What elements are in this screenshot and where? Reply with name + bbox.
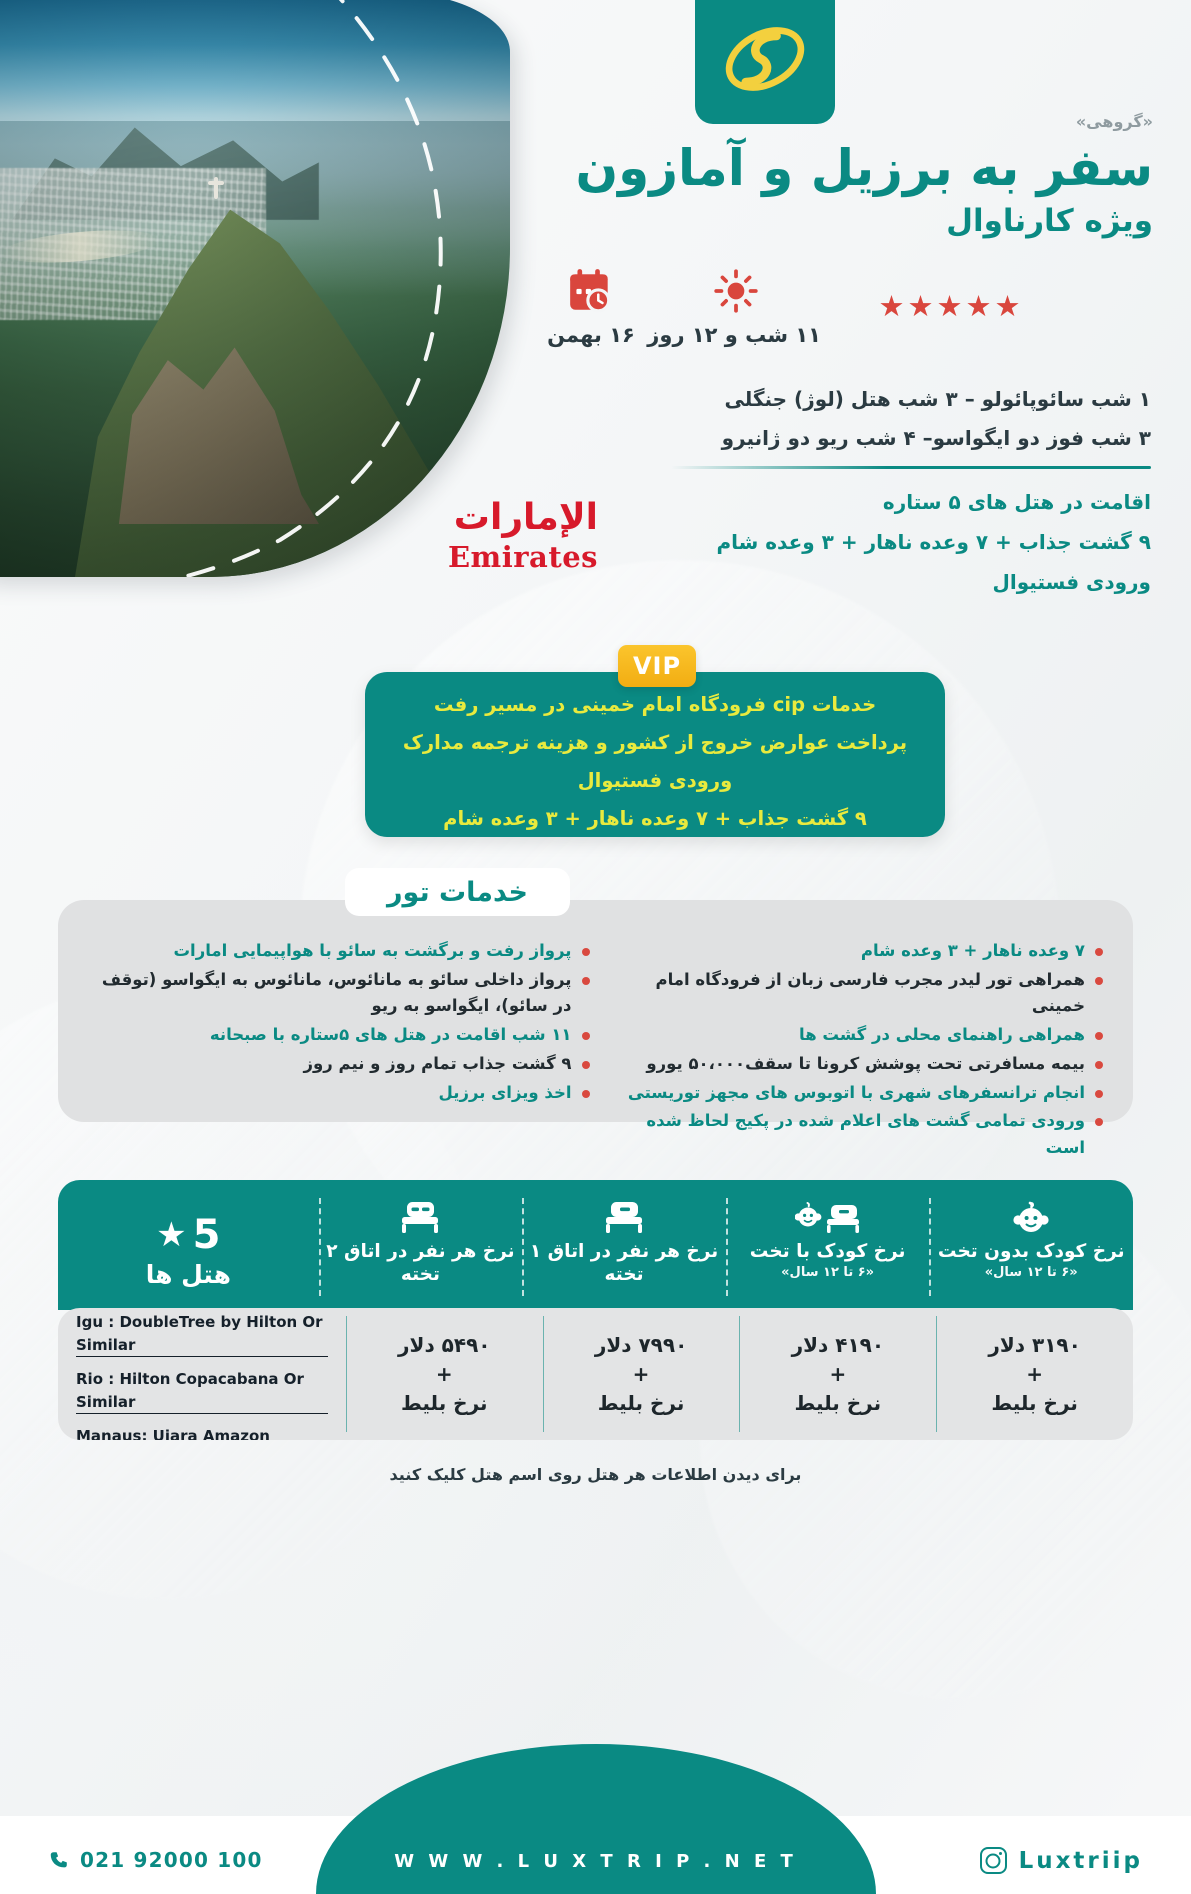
bullet-dot-icon [582, 1061, 590, 1069]
service-text: پرواز داخلی سائو به مانائوس، مانائوس به … [88, 967, 572, 1020]
column-header-single-room: نرخ هر نفر در اتاق ۱ تخته [522, 1180, 726, 1310]
column-header-label: نرخ هر نفر در اتاق ۲ تخته [319, 1240, 523, 1286]
section-divider [671, 466, 1151, 469]
list-item: بیمه مسافرتی تحت پوشش کرونا تا سقف۵۰،۰۰۰… [602, 1051, 1104, 1078]
price-value: ۴۱۹۰ دلار [792, 1331, 884, 1360]
table-cell-price-double-room: ۵۴۹۰ دلار + نرخ بلیط [346, 1308, 543, 1440]
column-header-double-room: نرخ هر نفر در اتاق ۲ تخته [319, 1180, 523, 1310]
table-cell-price-child-with-bed: ۴۱۹۰ دلار + نرخ بلیط [739, 1308, 936, 1440]
list-item: ورودی تمامی گشت های اعلام شده در پکیج لح… [602, 1108, 1104, 1161]
hotels-label: هتل ها [146, 1260, 231, 1289]
service-text: همراهی راهنمای محلی در گشت ها [602, 1022, 1086, 1049]
bullet-dot-icon [1095, 948, 1103, 956]
bullet-dot-icon [582, 1032, 590, 1040]
vip-badge: VIP [618, 645, 696, 687]
column-header-child-no-bed: نرخ کودک بدون تخت «۶ تا ۱۲ سال» [929, 1180, 1133, 1310]
trip-meta-row: ۱۶ بهمن ۱۱ شب [531, 265, 1151, 347]
bullet-dot-icon [582, 977, 590, 985]
price-extra-note: نرخ بلیط [991, 1389, 1078, 1418]
bullet-dot-icon [582, 948, 590, 956]
footer-instagram-handle: Luxtriip [1019, 1848, 1143, 1874]
services-left-column: ۷ وعده ناهار + ۳ وعده شام همراهی تور لید… [596, 938, 1104, 1104]
bullet-dot-icon [1095, 1032, 1103, 1040]
footer-instagram-block[interactable]: Luxtriip [980, 1847, 1143, 1874]
trip-date-cell: ۱۶ بهمن [531, 265, 651, 347]
emirates-wordmark: Emirates [478, 540, 598, 574]
footer-phone-block[interactable]: 021 92000 100 [48, 1848, 263, 1872]
poster-root: «گروهی» سفر به برزیل و آمازون ویژه کارنا… [0, 0, 1191, 1894]
double-bed-icon [394, 1194, 446, 1240]
luxtrip-swirl-logo-icon [717, 11, 813, 107]
column-header-hotels: 5 ★ هتل ها [58, 1180, 319, 1310]
bullet-dot-icon [1095, 1118, 1103, 1126]
price-value: ۷۹۹۰ دلار [595, 1331, 687, 1360]
table-cell-hotel-list: Sao : Grand Hyatt Or Similar Igu : Doubl… [58, 1308, 346, 1440]
baby-face-icon [1011, 1194, 1051, 1240]
header-text-block: «گروهی» سفر به برزیل و آمازون ویژه کارنا… [533, 112, 1153, 243]
service-text: همراهی تور لیدر مجرب فارسی زبان از فرودگ… [602, 967, 1086, 1020]
services-right-column: پرواز رفت و برگشت به سائو با هواپیمایی ا… [88, 938, 596, 1104]
inclusion-line-1: اقامت در هتل های ۵ ستاره [531, 482, 1151, 522]
vip-services-box: خدمات cip فرودگاه امام خمینی در مسیر رفت… [365, 672, 945, 837]
vip-line-4: ۹ گشت جذاب + ۷ وعده ناهار + ۳ وعده شام [393, 800, 917, 838]
page-title: سفر به برزیل و آمازون [533, 139, 1153, 198]
inclusions-block: اقامت در هتل های ۵ ستاره ۹ گشت جذاب + ۷ … [531, 482, 1151, 602]
brand-logo-box[interactable] [695, 0, 835, 124]
sun-icon [651, 265, 821, 317]
price-value: ۳۱۹۰ دلار [988, 1331, 1080, 1360]
phone-icon [48, 1849, 70, 1871]
service-text: اخذ ویزای برزیل [88, 1080, 572, 1107]
price-plus-sign: + [1026, 1360, 1043, 1389]
service-text: ۱۱ شب اقامت در هتل های ۵ستاره با صبحانه [88, 1022, 572, 1049]
service-text: ۷ وعده ناهار + ۳ وعده شام [602, 938, 1086, 965]
hotel-link[interactable]: Rio : Hilton Copacabana Or Similar [76, 1368, 328, 1414]
price-plus-sign: + [829, 1360, 846, 1389]
list-item: ۷ وعده ناهار + ۳ وعده شام [602, 938, 1104, 965]
bullet-dot-icon [1095, 1090, 1103, 1098]
price-table-body-row: ۳۱۹۰ دلار + نرخ بلیط ۴۱۹۰ دلار + نرخ بلی… [58, 1308, 1133, 1440]
inclusion-line-3: ورودی فستیوال [531, 562, 1151, 602]
trip-duration-cell: ۱۱ شب و ۱۲ روز [651, 265, 821, 347]
price-value: ۵۴۹۰ دلار [398, 1331, 490, 1360]
service-text: انجام ترانسفرهای شهری با اتوبوس های مجهز… [602, 1080, 1086, 1107]
list-item: همراهی راهنمای محلی در گشت ها [602, 1022, 1104, 1049]
hotel-star-rating: ★★★★★ [821, 265, 1081, 323]
bullet-dot-icon [582, 1090, 590, 1098]
list-item: انجام ترانسفرهای شهری با اتوبوس های مجهز… [602, 1080, 1104, 1107]
services-panel: ۷ وعده ناهار + ۳ وعده شام همراهی تور لید… [58, 900, 1133, 1122]
trip-duration-label: ۱۱ شب و ۱۲ روز [651, 323, 821, 347]
instagram-icon [980, 1847, 1007, 1874]
hotels-star-rating: 5 ★ [156, 1212, 220, 1258]
hotel-click-note: برای دیدن اطلاعات هر هتل روی اسم هتل کلی… [58, 1465, 1133, 1484]
column-header-label: نرخ کودک با تخت [750, 1240, 906, 1263]
list-item: ۱۱ شب اقامت در هتل های ۵ستاره با صبحانه [88, 1022, 590, 1049]
table-cell-price-child-no-bed: ۳۱۹۰ دلار + نرخ بلیط [936, 1308, 1133, 1440]
itinerary-line-1: ۱ شب سائوپائولو – ۳ شب هتل (لوژ) جنگلی [531, 380, 1151, 419]
emirates-arabic-mark: الإمارات [478, 500, 598, 536]
footer-bar: 021 92000 100 W W W . L U X T R I P . N … [0, 1816, 1191, 1894]
service-text: بیمه مسافرتی تحت پوشش کرونا تا سقف۵۰،۰۰۰… [602, 1051, 1086, 1078]
table-cell-price-single-room: ۷۹۹۰ دلار + نرخ بلیط [543, 1308, 740, 1440]
baby-with-bed-icon [795, 1194, 861, 1240]
column-header-label: نرخ هر نفر در اتاق ۱ تخته [522, 1240, 726, 1286]
column-header-child-with-bed: نرخ کودک با تخت «۶ تا ۱۲ سال» [726, 1180, 930, 1310]
footer-phone-number: 021 92000 100 [80, 1848, 263, 1872]
vip-line-2: پرداخت عوارض خروج از کشور و هزینه ترجمه … [393, 724, 917, 762]
hero-image-rio-aerial [0, 0, 510, 577]
service-text: ورودی تمامی گشت های اعلام شده در پکیج لح… [602, 1108, 1086, 1161]
hero-vignette [0, 0, 510, 577]
hotels-star-number: 5 [193, 1212, 221, 1258]
list-item: اخذ ویزای برزیل [88, 1080, 590, 1107]
star-icon: ★ [156, 1215, 186, 1255]
list-item: همراهی تور لیدر مجرب فارسی زبان از فرودگ… [602, 967, 1104, 1020]
list-item: ۹ گشت جذاب تمام روز و نیم روز [88, 1051, 590, 1078]
price-extra-note: نرخ بلیط [401, 1389, 488, 1418]
service-text: پرواز رفت و برگشت به سائو با هواپیمایی ا… [88, 938, 572, 965]
price-extra-note: نرخ بلیط [795, 1389, 882, 1418]
services-section-title: خدمات تور [345, 868, 570, 916]
price-plus-sign: + [633, 1360, 650, 1389]
trip-date-label: ۱۶ بهمن [531, 323, 651, 347]
list-item: پرواز رفت و برگشت به سائو با هواپیمایی ا… [88, 938, 590, 965]
vip-line-1: خدمات cip فرودگاه امام خمینی در مسیر رفت [393, 686, 917, 724]
column-header-label: نرخ کودک بدون تخت [938, 1240, 1125, 1263]
itinerary-block: ۱ شب سائوپائولو – ۳ شب هتل (لوژ) جنگلی ۳… [531, 380, 1151, 458]
price-table-header-row: نرخ کودک بدون تخت «۶ تا ۱۲ سال» [58, 1180, 1133, 1310]
bullet-dot-icon [1095, 977, 1103, 985]
list-item: پرواز داخلی سائو به مانائوس، مانائوس به … [88, 967, 590, 1020]
price-extra-note: نرخ بلیط [598, 1389, 685, 1418]
price-table: نرخ کودک بدون تخت «۶ تا ۱۲ سال» [58, 1180, 1133, 1440]
page-subtitle: ویژه کارناوال [533, 200, 1153, 243]
column-header-sublabel: «۶ تا ۱۲ سال» [985, 1265, 1078, 1280]
vip-line-3: ورودی فستیوال [393, 762, 917, 800]
itinerary-line-2: ۳ شب فوز دو ایگواسو– ۴ شب ریو دو ژانیرو [531, 419, 1151, 458]
hotel-link[interactable]: Manaus: Uiara Amazon Resort [76, 1425, 328, 1440]
service-text: ۹ گشت جذاب تمام روز و نیم روز [88, 1051, 572, 1078]
price-plus-sign: + [436, 1360, 453, 1389]
star-rating-glyphs: ★★★★★ [821, 289, 1081, 323]
bullet-dot-icon [1095, 1061, 1103, 1069]
calendar-clock-icon [531, 265, 651, 317]
single-bed-icon [598, 1194, 650, 1240]
group-tag: «گروهی» [533, 112, 1153, 131]
airline-logo-emirates: الإمارات Emirates [478, 500, 598, 574]
column-header-sublabel: «۶ تا ۱۲ سال» [781, 1265, 874, 1280]
hotel-link[interactable]: Igu : DoubleTree by Hilton Or Similar [76, 1311, 328, 1357]
inclusion-line-2: ۹ گشت جذاب + ۷ وعده ناهار + ۳ وعده شام [531, 522, 1151, 562]
footer-website-url[interactable]: W W W . L U X T R I P . N E T [394, 1851, 797, 1872]
